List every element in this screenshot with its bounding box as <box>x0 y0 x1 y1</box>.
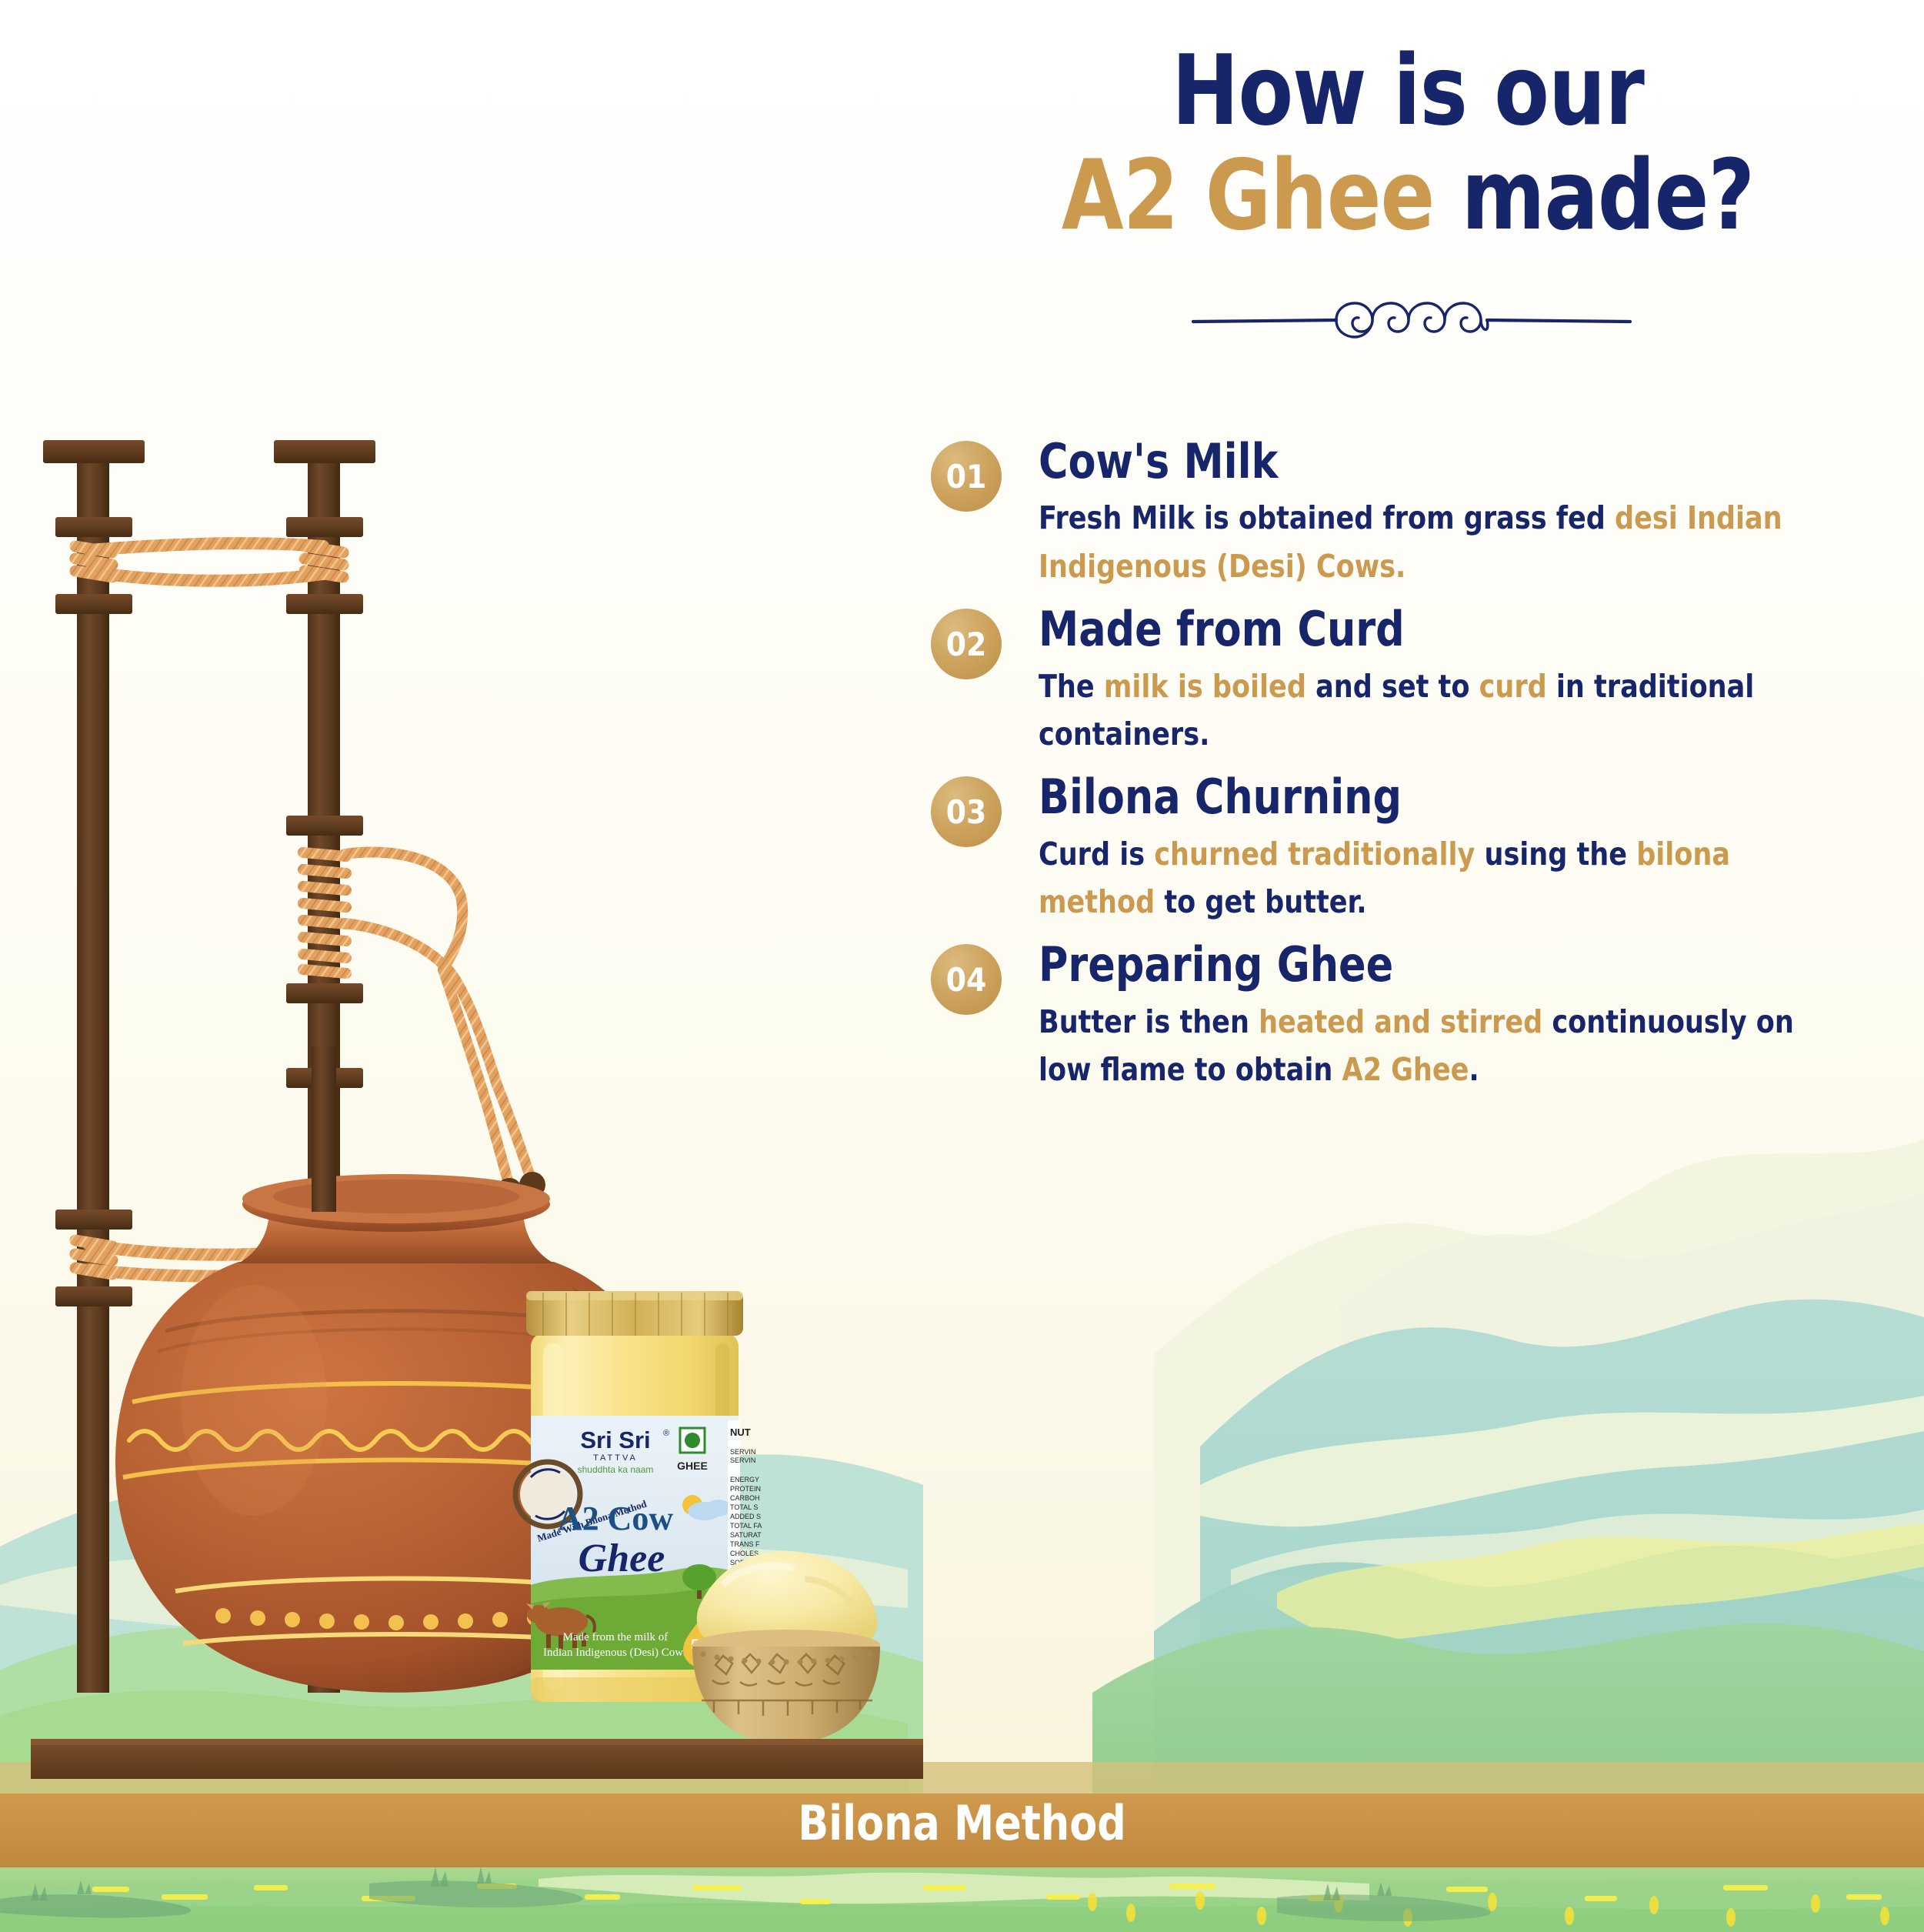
step-item: 01 Cow's Milk Fresh Milk is obtained fro… <box>931 435 1900 590</box>
plain-text: to get butter. <box>1164 883 1366 920</box>
infographic-canvas: How is our A2 Ghee made? 01 Cow's Milk F… <box>0 0 1924 1932</box>
wooden-ghee-bowl <box>692 1551 880 1743</box>
svg-text:CARBOH: CARBOH <box>730 1494 760 1502</box>
step-body: Bilona Churning Curd is churned traditio… <box>1039 770 1900 926</box>
churning-rope-loops <box>345 853 529 1181</box>
plain-text: using the <box>1484 836 1636 873</box>
step-description: The milk is boiled and set to curd in tr… <box>1039 662 1806 759</box>
product-name-line1: A2 Cow <box>558 1500 674 1537</box>
step-item: 02 Made from Curd The milk is boiled and… <box>931 602 1900 758</box>
svg-text:ADDED S: ADDED S <box>730 1513 761 1520</box>
step-title: Cow's Milk <box>1039 435 1849 488</box>
svg-text:ENERGY: ENERGY <box>730 1476 759 1483</box>
title-line-2: A2 Ghee made? <box>948 143 1868 248</box>
step-item: 04 Preparing Ghee Butter is then heated … <box>931 938 1900 1093</box>
product-brand: Sri Sri <box>580 1426 650 1453</box>
bilona-scene: Sri Sri ® TATTVA shuddhta ka naam GHEE M… <box>0 431 939 1800</box>
plain-text: . <box>1469 1051 1479 1088</box>
plain-text: Curd is <box>1039 836 1154 873</box>
product-sub-brand: TATTVA <box>593 1453 638 1463</box>
step-number-badge: 02 <box>931 609 1002 679</box>
step-title: Preparing Ghee <box>1039 938 1849 991</box>
svg-text:SATURAT: SATURAT <box>730 1531 762 1539</box>
svg-text:TOTAL S: TOTAL S <box>730 1503 758 1511</box>
step-body: Cow's Milk Fresh Milk is obtained from g… <box>1039 435 1900 590</box>
footer-title: Bilona Method <box>58 1795 1866 1851</box>
title-suffix: made? <box>1462 138 1754 252</box>
step-number-badge: 01 <box>931 441 1002 512</box>
steps-list: 01 Cow's Milk Fresh Milk is obtained fro… <box>931 435 1900 1106</box>
plain-text: Butter is then <box>1039 1003 1259 1040</box>
step-item: 03 Bilona Churning Curd is churned tradi… <box>931 770 1900 926</box>
svg-text:SERVIN: SERVIN <box>730 1448 755 1456</box>
plain-text: The <box>1039 668 1104 705</box>
ornamental-swirl-divider-icon <box>1189 296 1635 344</box>
step-description: Fresh Milk is obtained from grass fed de… <box>1039 494 1806 590</box>
plain-text: Fresh Milk is obtained from grass fed <box>1039 499 1615 536</box>
highlighted-text: milk is boiled <box>1104 668 1315 705</box>
product-tagline: shuddhta ka naam <box>578 1464 654 1475</box>
step-number-badge: 03 <box>931 776 1002 847</box>
nutrition-heading: NUT <box>730 1426 751 1438</box>
step-description: Butter is then heated and stirred contin… <box>1039 998 1806 1094</box>
step-title: Made from Curd <box>1039 602 1849 656</box>
churning-rope-upper <box>75 543 343 581</box>
plain-text: and set to <box>1315 668 1479 705</box>
highlighted-text: heated and stirred <box>1259 1003 1552 1040</box>
svg-text:TOTAL FA: TOTAL FA <box>730 1522 762 1530</box>
title-highlight: A2 Ghee <box>1062 138 1434 252</box>
page-title: How is our A2 Ghee made? <box>908 38 1908 248</box>
highlighted-text: curd <box>1479 668 1556 705</box>
product-claim-line1: Made from the milk of <box>563 1631 669 1643</box>
step-body: Made from Curd The milk is boiled and se… <box>1039 602 1900 758</box>
step-number-badge: 04 <box>931 944 1002 1015</box>
title-line-1: How is our <box>948 38 1868 143</box>
product-name-line2: Ghee <box>579 1537 665 1580</box>
svg-text:TRANS F: TRANS F <box>730 1540 760 1548</box>
product-claim-line2: Indian Indigenous (Desi) Cows <box>543 1647 688 1659</box>
veg-mark-label: GHEE <box>677 1460 708 1472</box>
svg-text:SERVIN: SERVIN <box>730 1457 755 1464</box>
step-title: Bilona Churning <box>1039 770 1849 823</box>
highlighted-text: A2 Ghee <box>1342 1051 1469 1088</box>
churn-rod <box>312 1046 336 1212</box>
svg-text:PROTEIN: PROTEIN <box>730 1485 761 1493</box>
highlighted-text: churned traditionally <box>1154 836 1484 873</box>
step-description: Curd is churned traditionally using the … <box>1039 830 1806 926</box>
step-body: Preparing Ghee Butter is then heated and… <box>1039 938 1900 1093</box>
registered-mark-icon: ® <box>663 1429 669 1438</box>
